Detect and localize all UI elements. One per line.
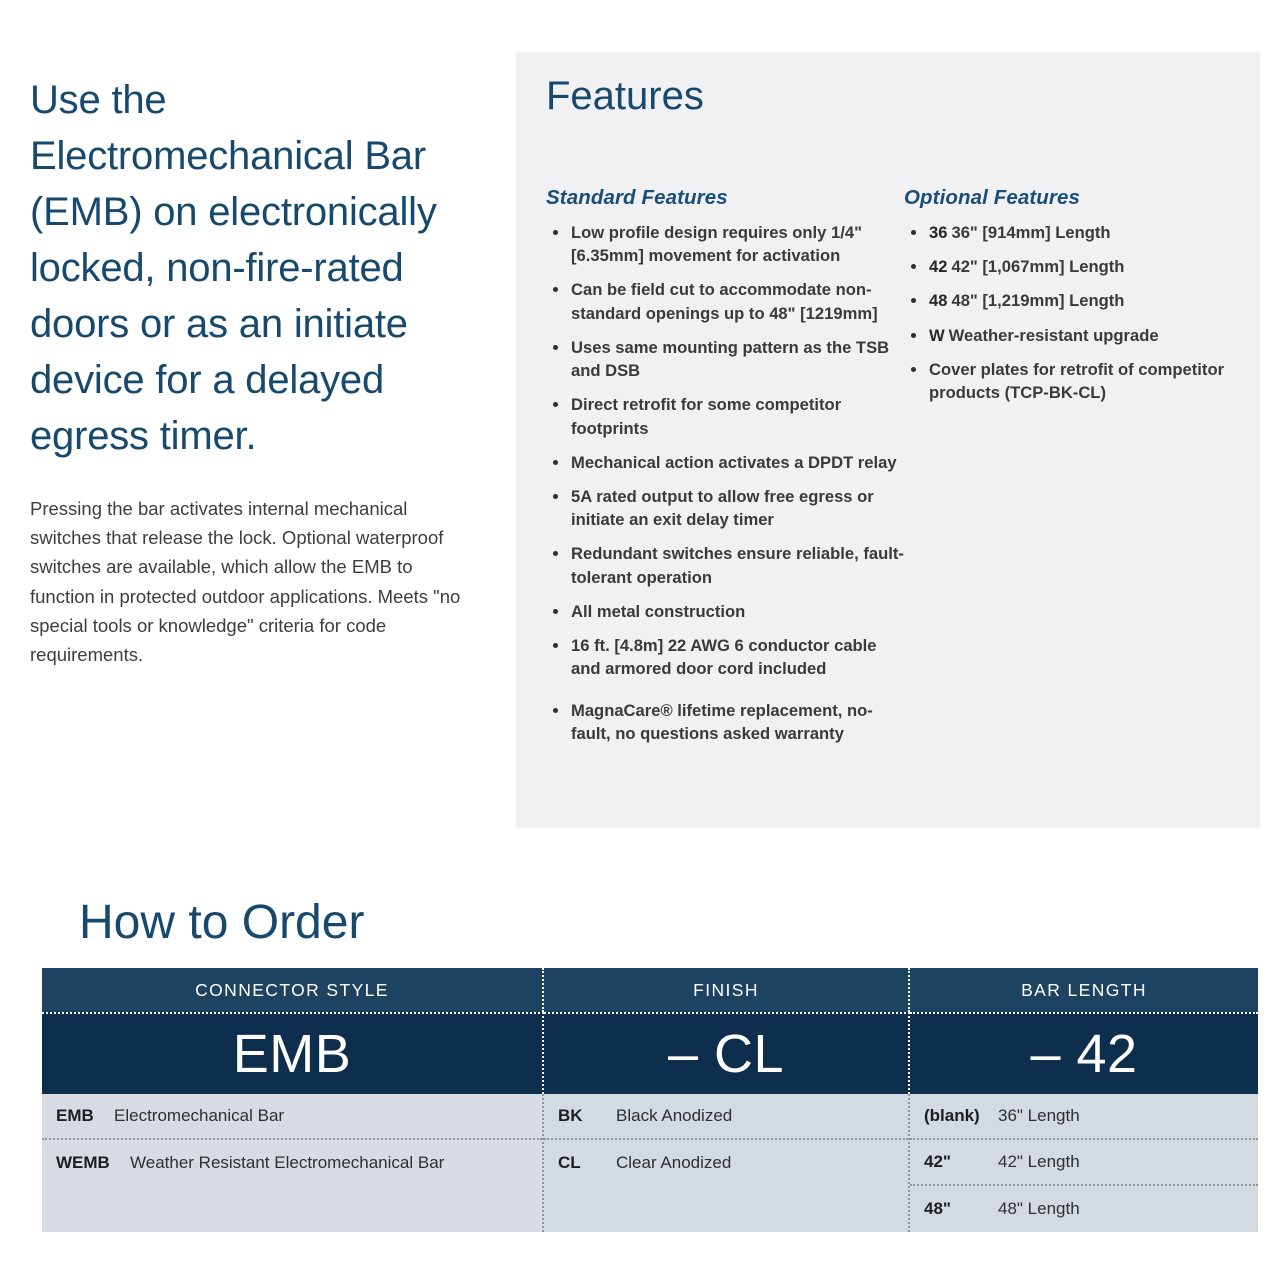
legend-item: WEMB Weather Resistant Electromechanical… — [42, 1140, 542, 1186]
legend-description: 42" Length — [998, 1152, 1080, 1172]
legend-item: 48" 48" Length — [910, 1186, 1258, 1232]
features-panel: Features Standard Features Low profile d… — [516, 52, 1260, 828]
feature-item: All metal construction — [546, 600, 906, 623]
legend-description: 36" Length — [998, 1106, 1080, 1126]
legend-code: (blank) — [924, 1106, 998, 1126]
option-text: 48" [1,219mm] Length — [951, 291, 1124, 310]
feature-item: MagnaCare® lifetime replacement, no-faul… — [546, 699, 906, 745]
optional-features-column: Optional Features 3636" [914mm] Length 4… — [904, 186, 1254, 415]
legend-item: EMB Electromechanical Bar — [42, 1094, 542, 1140]
standard-features-column: Standard Features Low profile design req… — [546, 186, 906, 756]
optional-feature-item: WWeather-resistant upgrade — [904, 324, 1254, 347]
code-finish: – CL — [544, 1012, 910, 1094]
option-text: Cover plates for retrofit of competitor … — [929, 360, 1224, 402]
how-to-order-title: How to Order — [79, 898, 364, 948]
option-text: 36" [914mm] Length — [951, 223, 1110, 242]
optional-feature-item: 4242" [1,067mm] Length — [904, 255, 1254, 278]
legend-spacer — [42, 1186, 542, 1226]
table-legend-row: EMB Electromechanical Bar WEMB Weather R… — [42, 1094, 1258, 1232]
how-to-order-table: CONNECTOR STYLE FINISH BAR LENGTH EMB – … — [42, 968, 1258, 1232]
legend-code: EMB — [56, 1106, 114, 1126]
table-header-row: CONNECTOR STYLE FINISH BAR LENGTH — [42, 968, 1258, 1012]
legend-description: Weather Resistant Electromechanical Bar — [130, 1153, 444, 1173]
header-bar-length: BAR LENGTH — [910, 968, 1258, 1012]
option-text: 42" [1,067mm] Length — [951, 257, 1124, 276]
header-finish: FINISH — [544, 968, 910, 1012]
feature-item: Low profile design requires only 1/4" [6… — [546, 221, 906, 267]
legend-item: 42" 42" Length — [910, 1140, 1258, 1186]
features-title: Features — [546, 74, 704, 118]
legend-item: BK Black Anodized — [544, 1094, 908, 1140]
option-text: Weather-resistant upgrade — [949, 326, 1159, 345]
option-code: 36 — [929, 223, 947, 242]
optional-feature-item: Cover plates for retrofit of competitor … — [904, 358, 1254, 404]
datasheet-page: Use the Electromechanical Bar (EMB) on e… — [0, 0, 1280, 1280]
standard-features-subtitle: Standard Features — [546, 186, 906, 210]
legend-code: WEMB — [56, 1153, 130, 1173]
optional-features-subtitle: Optional Features — [904, 186, 1254, 210]
legend-code: CL — [558, 1153, 616, 1173]
standard-features-list: Low profile design requires only 1/4" [6… — [546, 221, 906, 745]
intro-body-paragraph: Pressing the bar activates internal mech… — [30, 494, 480, 669]
legend-description: Black Anodized — [616, 1106, 732, 1126]
legend-connector-column: EMB Electromechanical Bar WEMB Weather R… — [42, 1094, 544, 1232]
legend-description: Electromechanical Bar — [114, 1106, 284, 1126]
optional-feature-item: 4848" [1,219mm] Length — [904, 289, 1254, 312]
code-bar-length: – 42 — [910, 1012, 1258, 1094]
code-connector-style: EMB — [42, 1012, 544, 1094]
option-code: W — [929, 326, 945, 345]
legend-spacer — [544, 1186, 908, 1226]
legend-code: 42" — [924, 1152, 998, 1172]
legend-description: 48" Length — [998, 1199, 1080, 1219]
option-code: 42 — [929, 257, 947, 276]
legend-description: Clear Anodized — [616, 1153, 731, 1173]
intro-section: Use the Electromechanical Bar (EMB) on e… — [30, 72, 490, 669]
legend-item: CL Clear Anodized — [544, 1140, 908, 1186]
optional-feature-item: 3636" [914mm] Length — [904, 221, 1254, 244]
feature-item: Direct retrofit for some competitor foot… — [546, 393, 906, 439]
legend-item: (blank) 36" Length — [910, 1094, 1258, 1140]
legend-bar-length-column: (blank) 36" Length 42" 42" Length 48" 48… — [910, 1094, 1258, 1232]
feature-item: Can be field cut to accommodate non-stan… — [546, 278, 906, 324]
feature-item: Mechanical action activates a DPDT relay — [546, 451, 906, 474]
intro-headline: Use the Electromechanical Bar (EMB) on e… — [30, 72, 490, 464]
optional-features-list: 3636" [914mm] Length 4242" [1,067mm] Len… — [904, 221, 1254, 404]
table-code-row: EMB – CL – 42 — [42, 1012, 1258, 1094]
header-connector-style: CONNECTOR STYLE — [42, 968, 544, 1012]
option-code: 48 — [929, 291, 947, 310]
feature-item: 5A rated output to allow free egress or … — [546, 485, 906, 531]
legend-finish-column: BK Black Anodized CL Clear Anodized — [544, 1094, 910, 1232]
legend-code: BK — [558, 1106, 616, 1126]
feature-item: 16 ft. [4.8m] 22 AWG 6 conductor cable a… — [546, 634, 906, 680]
feature-item: Redundant switches ensure reliable, faul… — [546, 542, 906, 588]
feature-item: Uses same mounting pattern as the TSB an… — [546, 336, 906, 382]
legend-code: 48" — [924, 1199, 998, 1219]
